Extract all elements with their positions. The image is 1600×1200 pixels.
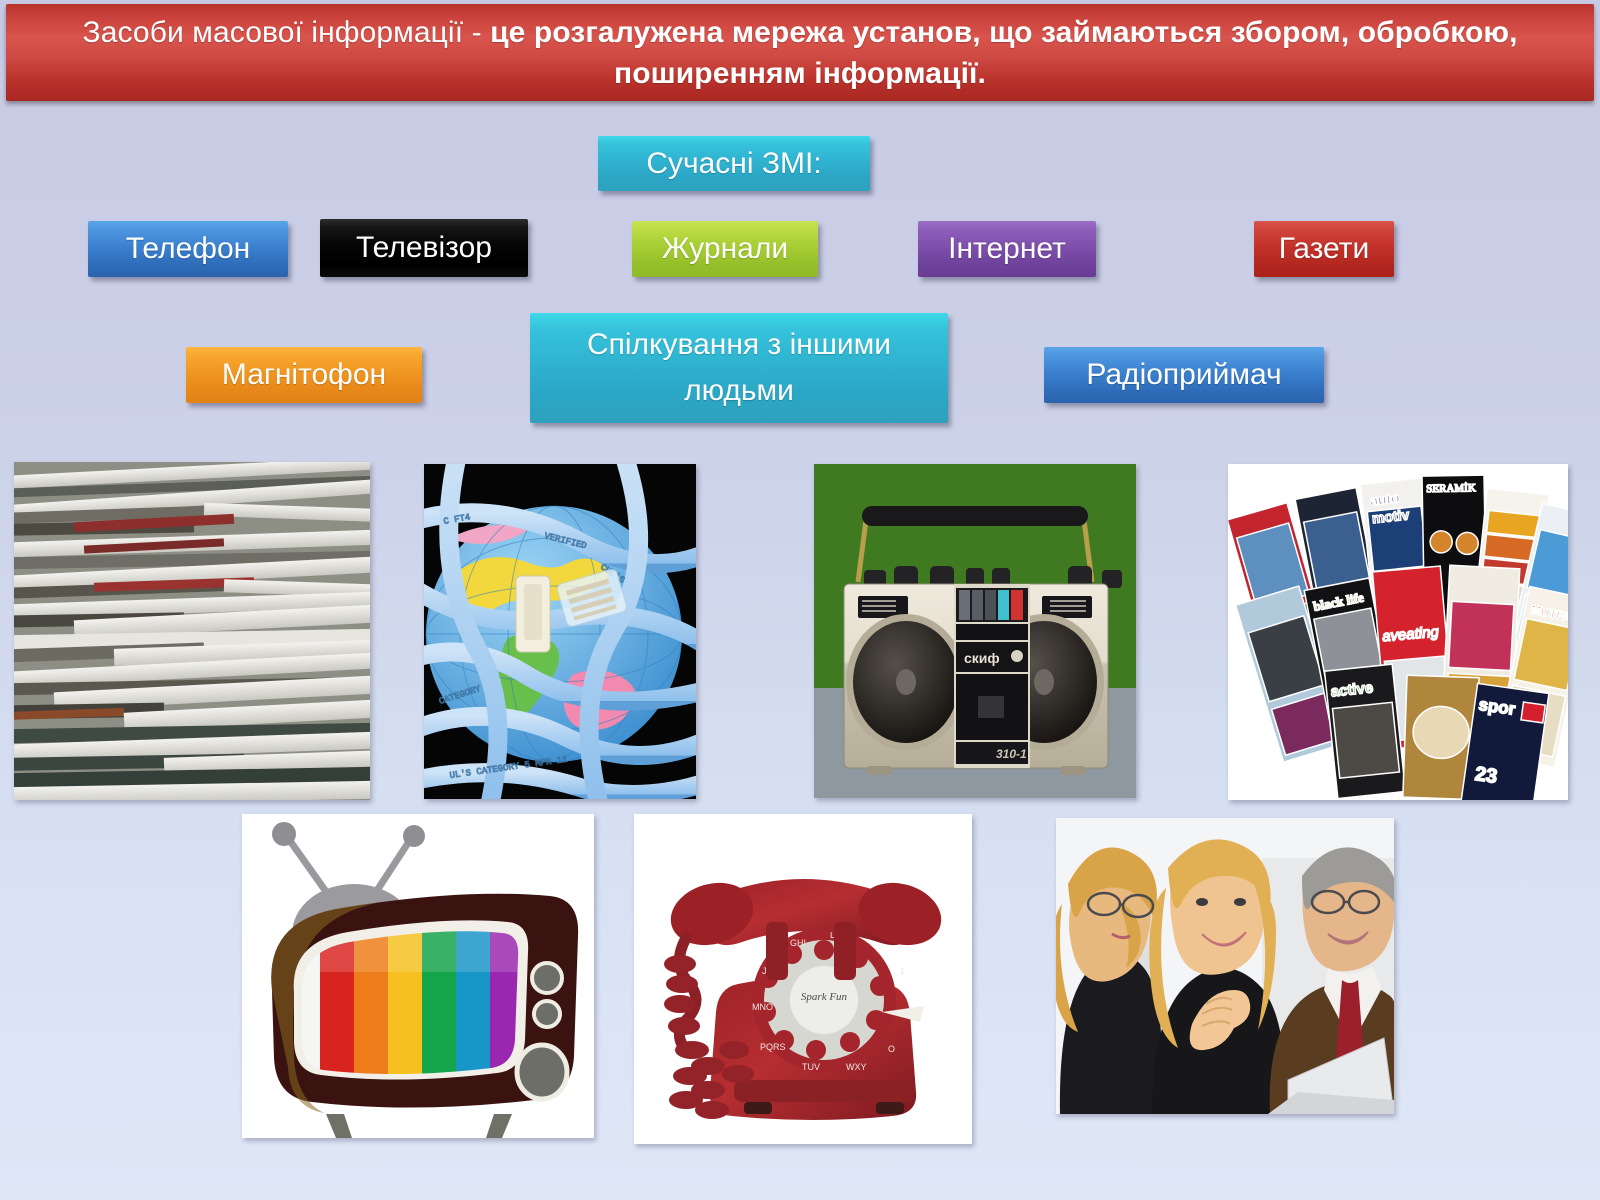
television-illustration [242, 814, 594, 1138]
people-talking-photo [1056, 818, 1394, 1114]
television-photo [242, 814, 594, 1138]
label-hazety[interactable]: Газети [1254, 221, 1394, 277]
svg-text:310-1: 310-1 [996, 747, 1027, 761]
radio-boombox-photo: скиф 310-1 [814, 464, 1136, 798]
magazines-illustration: auto motiv SERAMİK [1228, 464, 1568, 800]
svg-text:MNO: MNO [752, 1002, 773, 1012]
svg-text:скиф: скиф [964, 650, 1000, 666]
svg-text:1: 1 [900, 966, 905, 976]
label-telefon[interactable]: Телефон [88, 221, 288, 277]
svg-text:WXY: WXY [846, 1062, 867, 1072]
label-spilkuvannia-line2: людьми [684, 368, 794, 414]
label-internet[interactable]: Інтернет [918, 221, 1096, 277]
internet-globe-photo: C FT4 VERIFIED CUL'S CATEGORY UL'S CATEG… [424, 464, 696, 799]
label-spilkuvannia[interactable]: Спілкування з іншими людьми [530, 313, 948, 423]
svg-text:Spark Fun: Spark Fun [801, 991, 848, 1003]
telephone-photo: Spark Fun ABCDEF GHIJKL MNOPQRS TUVWXY O… [634, 814, 972, 1144]
label-televizor[interactable]: Телевізор [320, 219, 528, 277]
svg-text:O: O [888, 1044, 895, 1054]
magazines-photo: auto motiv SERAMİK [1228, 464, 1568, 800]
label-radiopryimach[interactable]: Радіоприймач [1044, 347, 1324, 403]
banner-text: Засоби масової інформації - це розгалуже… [30, 12, 1570, 94]
label-mahnitofon[interactable]: Магнітофон [186, 347, 422, 403]
title-banner: Засоби масової інформації - це розгалуже… [6, 4, 1594, 101]
svg-text:GHI: GHI [790, 938, 806, 948]
people-illustration [1056, 818, 1394, 1114]
telephone-illustration: Spark Fun ABCDEF GHIJKL MNOPQRS TUVWXY O… [634, 814, 972, 1144]
label-spilkuvannia-line1: Спілкування з іншими [587, 322, 891, 368]
banner-lead-text: Засоби масової інформації - [82, 16, 490, 49]
svg-text:PQRS: PQRS [760, 1042, 786, 1052]
svg-text:auto: auto [1369, 489, 1400, 508]
boombox-illustration: скиф 310-1 [814, 464, 1136, 798]
svg-text:TUV: TUV [802, 1062, 820, 1072]
label-zhurnaly[interactable]: Журнали [632, 221, 818, 277]
svg-text:23: 23 [1473, 763, 1498, 788]
label-suchasni-zmi[interactable]: Сучасні ЗМІ: [598, 136, 870, 191]
newspapers-photo [14, 462, 370, 800]
newspapers-illustration [14, 462, 370, 800]
svg-text:SERAMİK: SERAMİK [1426, 482, 1476, 495]
banner-bold-text: це розгалужена мережа установ, що займаю… [490, 16, 1517, 90]
globe-cables-illustration: C FT4 VERIFIED CUL'S CATEGORY UL'S CATEG… [424, 464, 696, 799]
slide-canvas: Засоби масової інформації - це розгалуже… [0, 0, 1600, 1200]
